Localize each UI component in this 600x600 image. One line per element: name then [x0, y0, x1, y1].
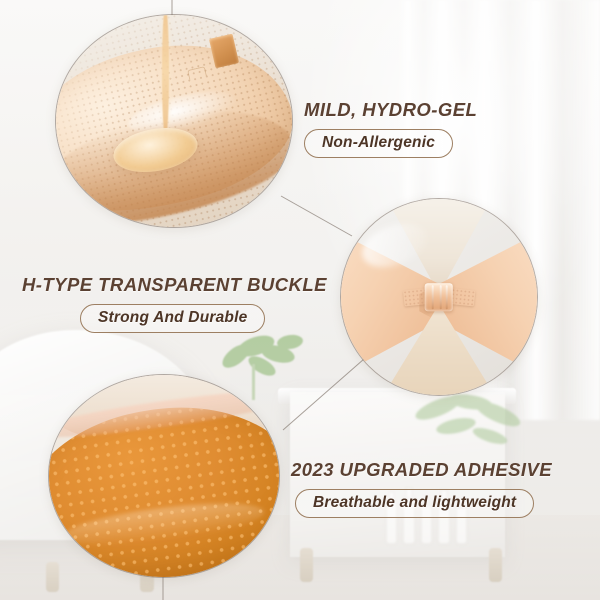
feature-badge: Non-Allergenic [304, 129, 453, 158]
feature-text-upgraded-adhesive: 2023 UPGRADED ADHESIVE Breathable and li… [291, 459, 552, 518]
gel-pour-photo [55, 14, 293, 228]
buckle-bar [432, 285, 434, 309]
buckle-bar [440, 285, 442, 309]
feature-headline: 2023 UPGRADED ADHESIVE [291, 459, 552, 481]
buckle-bar [446, 285, 448, 309]
feature-headline: MILD, HYDRO-GEL [304, 99, 477, 121]
adhesive-texture-photo [48, 374, 280, 578]
feature-headline: H-TYPE TRANSPARENT BUCKLE [22, 274, 327, 296]
h-type-buckle [404, 282, 475, 311]
buckle-clasp [425, 283, 453, 312]
buckle-closeup-photo [340, 198, 538, 396]
product-infographic: MILD, HYDRO-GEL Non-Allergenic H-TYPE TR… [0, 0, 600, 600]
buckle-strap-right [449, 288, 475, 307]
feature-text-hydro-gel: MILD, HYDRO-GEL Non-Allergenic [304, 99, 477, 158]
feature-badge: Strong And Durable [80, 304, 265, 333]
feature-text-h-type-buckle: H-TYPE TRANSPARENT BUCKLE Strong And Dur… [22, 274, 327, 333]
feature-badge: Breathable and lightweight [295, 489, 534, 518]
